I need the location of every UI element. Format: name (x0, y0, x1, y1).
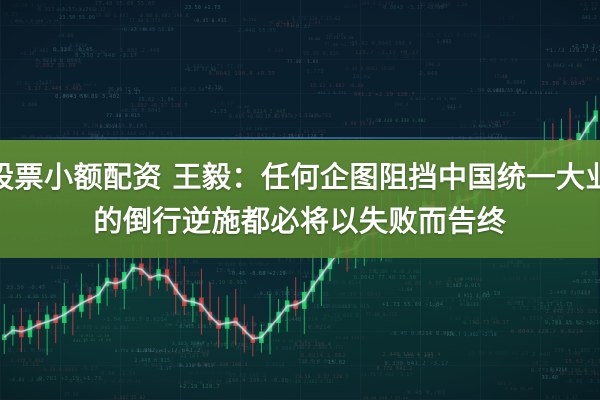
banner-image: -1.043,402-0.45 641.2 9,78155.0915.62 -3… (0, 0, 600, 400)
headline-band: 股票小额配资 王毅：任何企图阻挡中国统一大业 的倒行逆施都必将以失败而告终 (0, 140, 600, 258)
headline-line-2: 的倒行逆施都必将以失败而告终 (93, 199, 506, 243)
headline-line-1: 股票小额配资 王毅：任何企图阻挡中国统一大业 (0, 155, 600, 199)
section-divider (0, 137, 600, 139)
